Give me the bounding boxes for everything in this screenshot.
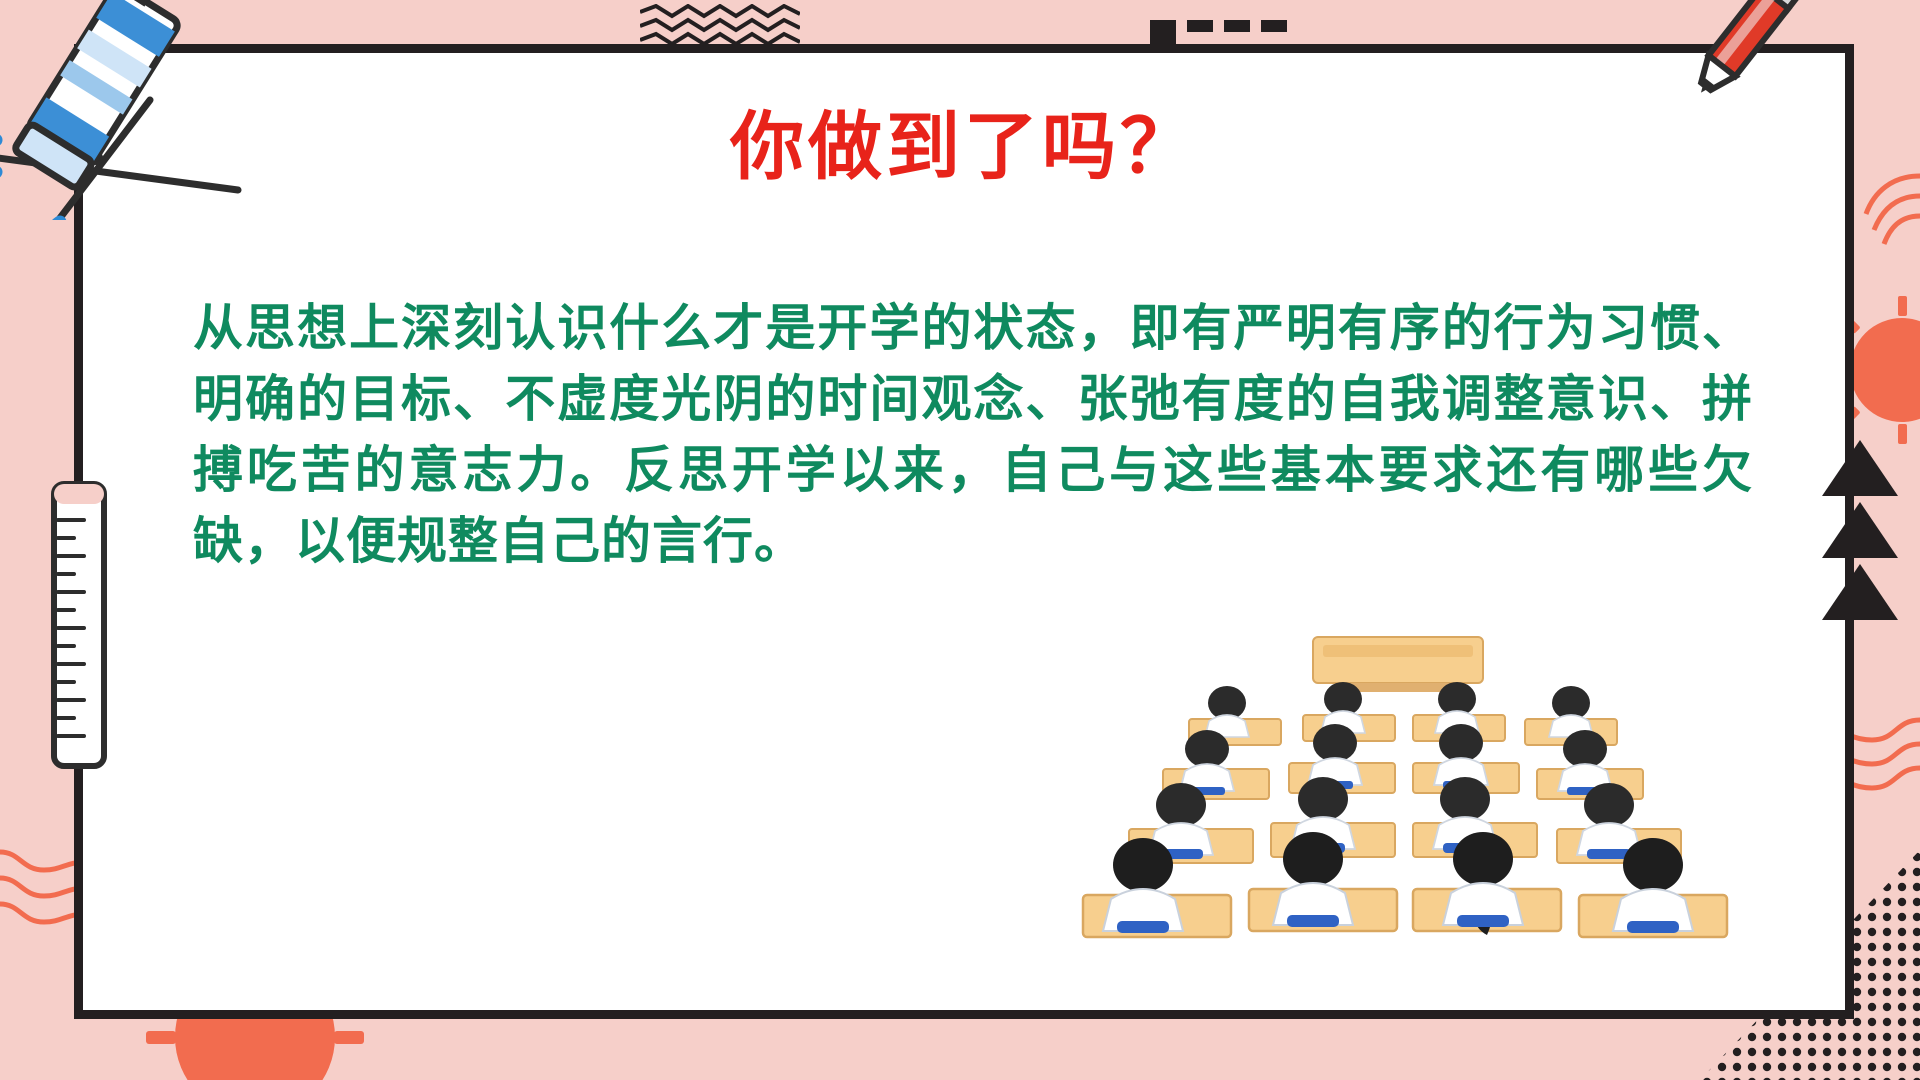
content-card: 你做到了吗？ 从思想上深刻认识什么才是开学的状态，即有严明有序的行为习惯、明确的… [74,44,1854,1019]
body-paragraph-text: 从思想上深刻认识什么才是开学的状态，即有严明有序的行为习惯、明确的目标、不虚度光… [193,293,1753,577]
poster-canvas: 你做到了吗？ 从思想上深刻认识什么才是开学的状态，即有严明有序的行为习惯、明确的… [0,0,1920,1080]
body-paragraph: 从思想上深刻认识什么才是开学的状态，即有严明有序的行为习惯、明确的目标、不虚度光… [193,293,1753,577]
students-in-classroom-illustration [1013,633,1773,963]
dashed-line-icon [1150,20,1310,42]
page-title: 你做到了吗？ [83,108,1845,186]
